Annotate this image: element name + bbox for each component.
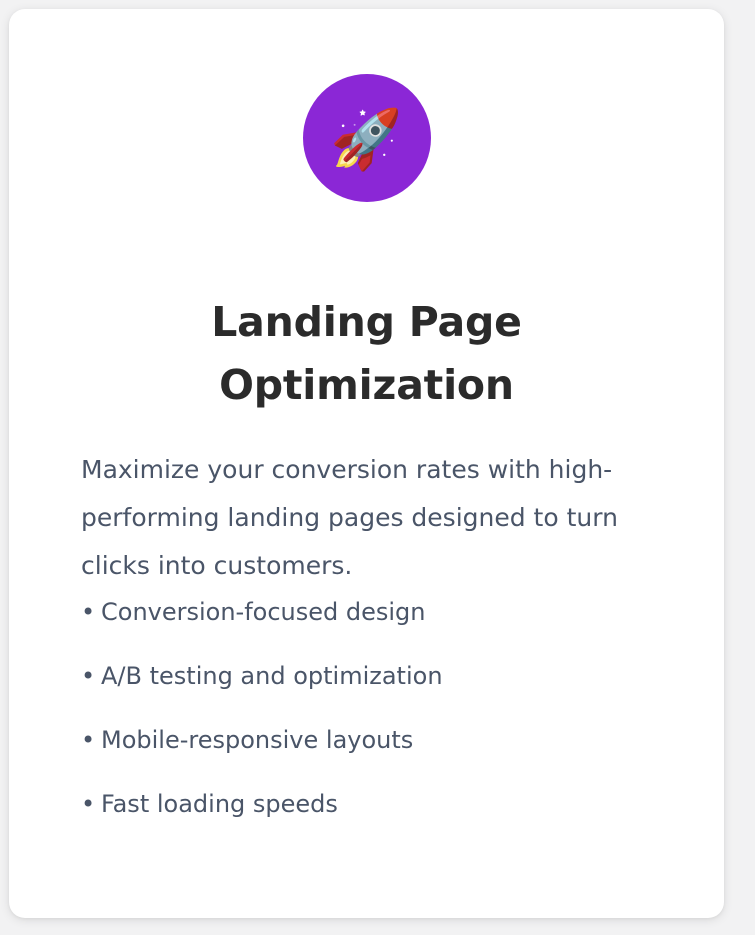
service-card[interactable]: 🚀 Landing Page Optimization Maximize you… — [9, 9, 724, 918]
bullet-icon: • — [81, 661, 101, 691]
list-item: • Mobile-responsive layouts — [81, 725, 681, 789]
feature-label: Fast loading speeds — [101, 789, 681, 819]
feature-list: • Conversion-focused design • A/B testin… — [81, 597, 681, 853]
page-root: 🚀 Landing Page Optimization Maximize you… — [0, 0, 755, 935]
list-item: • A/B testing and optimization — [81, 661, 681, 725]
list-item: • Conversion-focused design — [81, 597, 681, 661]
bullet-icon: • — [81, 789, 101, 819]
feature-label: A/B testing and optimization — [101, 661, 681, 691]
rocket-icon: 🚀 — [330, 110, 402, 168]
bullet-icon: • — [81, 725, 101, 755]
card-icon-container: 🚀 — [9, 74, 724, 202]
page-title: Landing Page Optimization — [73, 291, 660, 417]
list-item: • Fast loading speeds — [81, 789, 681, 853]
bullet-icon: • — [81, 597, 101, 627]
icon-circle-badge: 🚀 — [303, 74, 431, 202]
feature-label: Conversion-focused design — [101, 597, 681, 627]
card-description: Maximize your conversion rates with high… — [81, 446, 693, 590]
feature-label: Mobile-responsive layouts — [101, 725, 681, 755]
